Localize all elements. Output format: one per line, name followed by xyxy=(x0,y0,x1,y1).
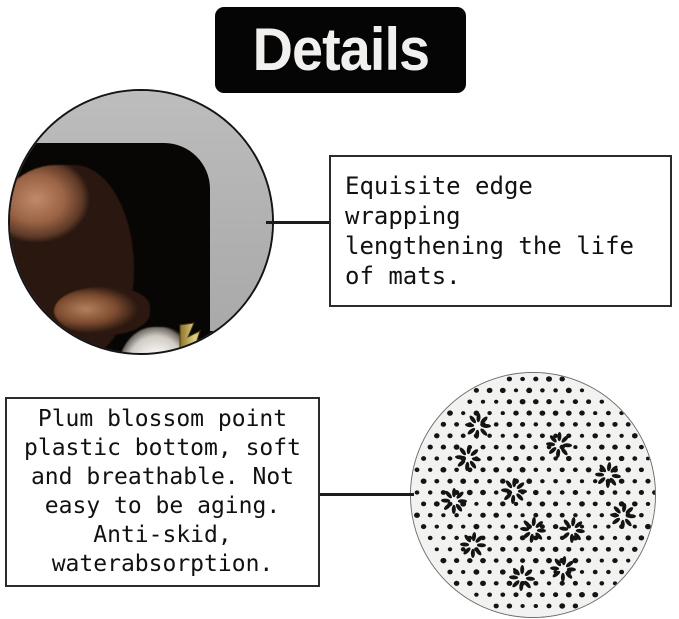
connector-line-bottom xyxy=(318,493,414,496)
details-header-banner: Details xyxy=(215,7,466,93)
plum-blossom-pattern xyxy=(411,373,656,618)
page-title: Details xyxy=(252,20,428,80)
golden-crown-icon xyxy=(178,321,224,355)
mat-backing-photo xyxy=(410,372,656,618)
callout-plum-blossom-bottom: Plum blossom point plastic bottom, soft … xyxy=(5,397,320,587)
connector-line-top xyxy=(266,221,331,224)
callout-edge-wrapping-text: Equisite edge wrapping lengthening the l… xyxy=(331,171,670,291)
callout-plum-blossom-bottom-text: Plum blossom point plastic bottom, soft … xyxy=(18,405,307,579)
callout-edge-wrapping: Equisite edge wrapping lengthening the l… xyxy=(329,155,672,307)
edge-closeup-photo xyxy=(8,89,274,355)
